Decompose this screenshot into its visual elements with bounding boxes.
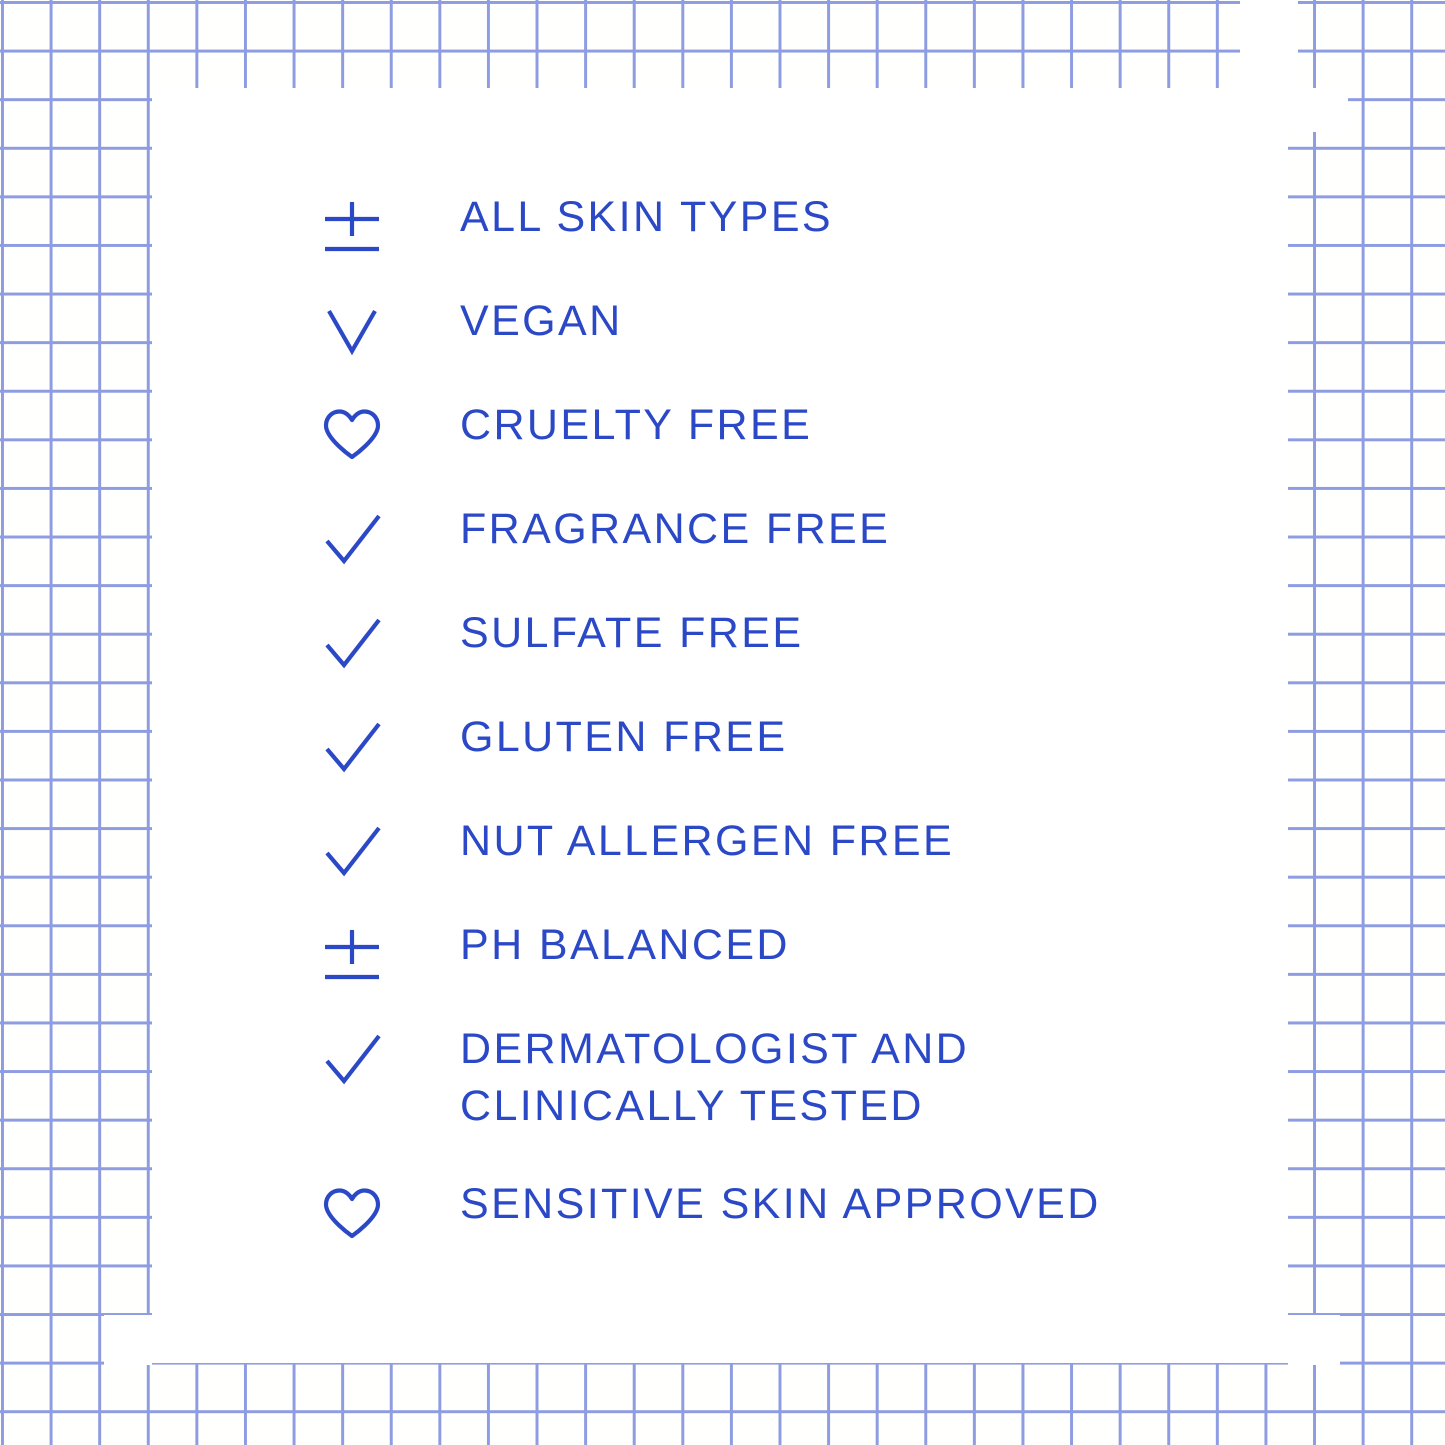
checkmark-icon xyxy=(322,1017,460,1089)
v-chevron-icon xyxy=(322,289,460,361)
checkmark-icon xyxy=(322,809,460,881)
list-item: GLUTEN FREE xyxy=(322,705,1222,809)
list-item: VEGAN xyxy=(322,289,1222,393)
list-item: SULFATE FREE xyxy=(322,601,1222,705)
list-item-label: DERMATOLOGIST AND CLINICALLY TESTED xyxy=(460,1017,969,1135)
plus-minus-icon xyxy=(322,185,460,257)
panel-corner-mask-top-right xyxy=(1240,0,1298,88)
list-item-label: CRUELTY FREE xyxy=(460,393,812,454)
list-item-label: GLUTEN FREE xyxy=(460,705,787,766)
list-item: PH BALANCED xyxy=(322,913,1222,1017)
list-item-label: PH BALANCED xyxy=(460,913,790,974)
plus-minus-icon xyxy=(322,913,460,985)
product-claims-graphic: ALL SKIN TYPES VEGAN CRUELTY FREE xyxy=(0,0,1445,1445)
list-item-label: ALL SKIN TYPES xyxy=(460,185,833,246)
list-item: NUT ALLERGEN FREE xyxy=(322,809,1222,913)
feature-claims-list: ALL SKIN TYPES VEGAN CRUELTY FREE xyxy=(322,185,1222,1276)
panel-corner-mask-bottom-right xyxy=(1288,1315,1340,1365)
list-item: FRAGRANCE FREE xyxy=(322,497,1222,601)
list-item-label: SULFATE FREE xyxy=(460,601,803,662)
list-item-label: SENSITIVE SKIN APPROVED xyxy=(460,1172,1101,1233)
list-item-label: NUT ALLERGEN FREE xyxy=(460,809,954,870)
list-item: ALL SKIN TYPES xyxy=(322,185,1222,289)
list-item: SENSITIVE SKIN APPROVED xyxy=(322,1172,1222,1276)
list-item-label: FRAGRANCE FREE xyxy=(460,497,890,558)
checkmark-icon xyxy=(322,601,460,673)
list-item: DERMATOLOGIST AND CLINICALLY TESTED xyxy=(322,1017,1222,1172)
checkmark-icon xyxy=(322,497,460,569)
panel-corner-mask-bottom-left xyxy=(104,1315,152,1365)
list-item: CRUELTY FREE xyxy=(322,393,1222,497)
checkmark-icon xyxy=(322,705,460,777)
heart-icon xyxy=(322,393,460,465)
list-item-label: VEGAN xyxy=(460,289,623,350)
panel-corner-mask-top-right-2 xyxy=(1288,88,1348,132)
heart-icon xyxy=(322,1172,460,1244)
